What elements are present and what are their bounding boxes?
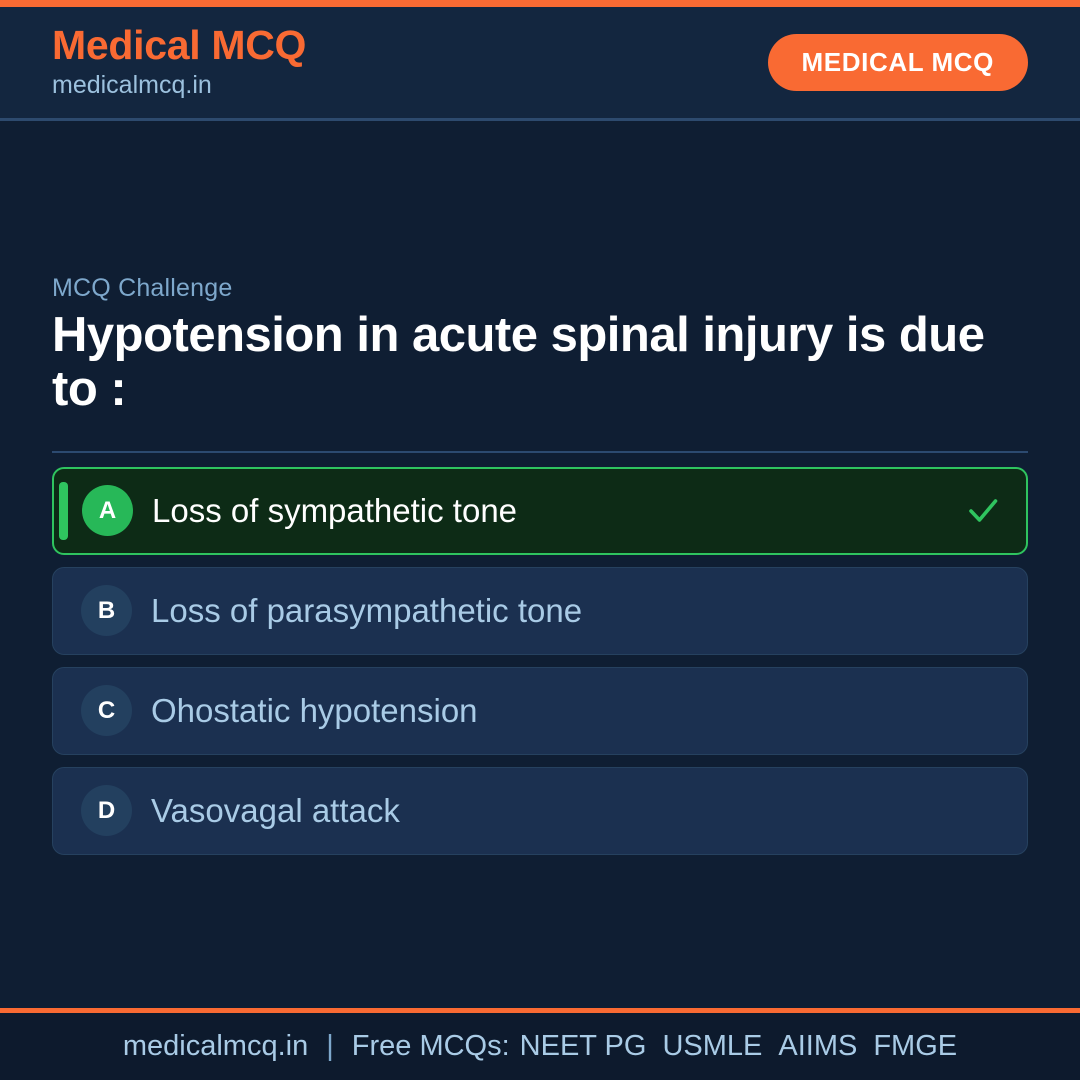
header: Medical MCQ medicalmcq.in MEDICAL MCQ [0, 7, 1080, 121]
option-b-badge: B [81, 585, 132, 636]
footer-site: medicalmcq.in [123, 1030, 308, 1063]
question-text: Hypotension in acute spinal injury is du… [52, 309, 1028, 417]
option-d-badge: D [81, 785, 132, 836]
options-list: A Loss of sympathetic tone B Loss of par… [52, 467, 1028, 855]
option-d-text: Vasovagal attack [151, 793, 1001, 829]
kicker-label: MCQ Challenge [52, 274, 1028, 303]
footer-separator: | [326, 1030, 334, 1063]
header-badge: MEDICAL MCQ [768, 34, 1028, 91]
exam-usmle: USMLE [662, 1030, 762, 1063]
exam-aiims: AIIMS [778, 1030, 857, 1063]
option-a[interactable]: A Loss of sympathetic tone [52, 467, 1028, 555]
brand-subtitle: medicalmcq.in [52, 69, 306, 102]
brand-title: Medical MCQ [52, 24, 306, 67]
footer-exams: Free MCQs: NEET PG USMLE AIIMS FMGE [352, 1030, 957, 1063]
option-c-badge: C [81, 685, 132, 736]
option-b[interactable]: B Loss of parasympathetic tone [52, 567, 1028, 655]
option-b-text: Loss of parasympathetic tone [151, 593, 1001, 629]
option-d[interactable]: D Vasovagal attack [52, 767, 1028, 855]
exam-neet-pg: NEET PG [520, 1030, 647, 1063]
footer: medicalmcq.in | Free MCQs: NEET PG USMLE… [0, 1008, 1080, 1080]
check-icon [966, 494, 1000, 528]
exam-fmge: FMGE [873, 1030, 957, 1063]
mcq-card: Medical MCQ medicalmcq.in MEDICAL MCQ MC… [0, 0, 1080, 1080]
option-c-text: Ohostatic hypotension [151, 693, 1001, 729]
correct-accent-bar [59, 482, 68, 540]
question-divider [52, 451, 1028, 453]
brand: Medical MCQ medicalmcq.in [52, 24, 306, 102]
question-area: MCQ Challenge Hypotension in acute spina… [0, 121, 1080, 1008]
footer-exams-label: Free MCQs: [352, 1030, 510, 1063]
option-c[interactable]: C Ohostatic hypotension [52, 667, 1028, 755]
footer-content: medicalmcq.in | Free MCQs: NEET PG USMLE… [123, 1030, 957, 1063]
option-a-badge: A [82, 485, 133, 536]
option-a-text: Loss of sympathetic tone [152, 493, 966, 529]
top-accent-bar [0, 0, 1080, 7]
